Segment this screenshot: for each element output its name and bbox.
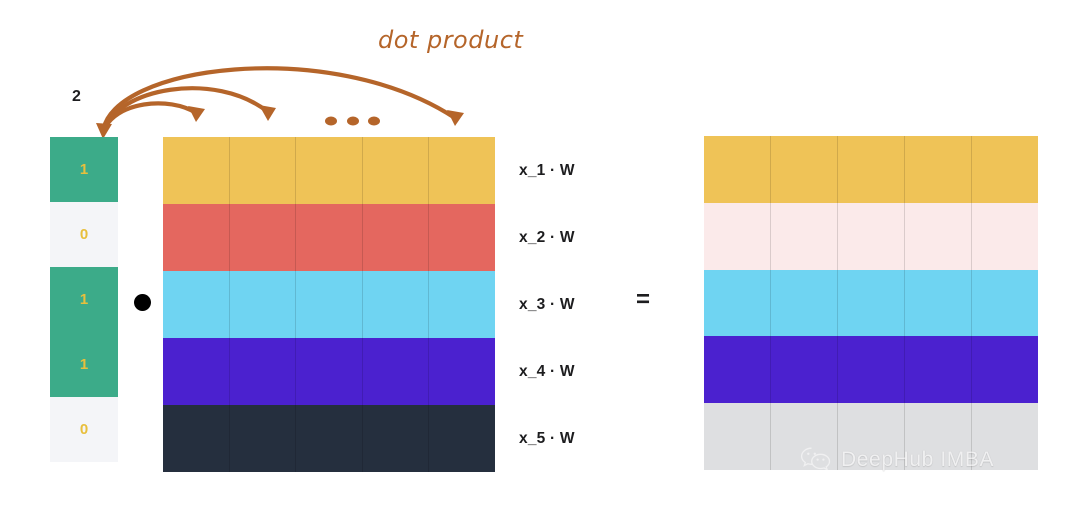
row-label-list: x_1 · W x_2 · W x_3 · W x_4 · W x_5 · W xyxy=(519,137,629,472)
matrix-cell xyxy=(363,338,430,405)
diagram-canvas: 2 dot product 1 0 1 1 0 xyxy=(0,0,1080,516)
result-cell xyxy=(905,336,972,403)
matrix-row[interactable] xyxy=(163,137,495,204)
result-cell xyxy=(704,203,771,270)
result-cell xyxy=(905,203,972,270)
vector-cell[interactable]: 1 xyxy=(50,267,118,332)
result-cell xyxy=(905,270,972,337)
matrix-cell xyxy=(363,271,430,338)
matrix-cell xyxy=(230,137,297,204)
matrix-cell xyxy=(296,137,363,204)
matrix-cell xyxy=(363,204,430,271)
row-label: x_3 · W xyxy=(519,271,629,338)
matrix-cell xyxy=(163,405,230,472)
matrix-cell xyxy=(296,271,363,338)
row-label: x_2 · W xyxy=(519,204,629,271)
matrix-cell xyxy=(429,137,495,204)
dot-product-operator-icon xyxy=(134,294,151,311)
result-row[interactable] xyxy=(704,270,1038,337)
matrix-row[interactable] xyxy=(163,405,495,472)
arrow-path-mid xyxy=(103,88,268,132)
result-row[interactable] xyxy=(704,336,1038,403)
matrix-cell xyxy=(163,338,230,405)
matrix-row[interactable] xyxy=(163,338,495,405)
weight-matrix xyxy=(163,137,495,472)
result-cell xyxy=(905,136,972,203)
matrix-cell xyxy=(429,405,495,472)
result-cell xyxy=(771,270,838,337)
row-label: x_1 · W xyxy=(519,137,629,204)
result-cell xyxy=(704,270,771,337)
matrix-cell xyxy=(429,271,495,338)
result-cell xyxy=(972,336,1038,403)
arrow-path-short xyxy=(103,103,196,132)
result-cell xyxy=(972,136,1038,203)
matrix-cell xyxy=(163,271,230,338)
result-row[interactable] xyxy=(704,203,1038,270)
matrix-cell xyxy=(296,204,363,271)
matrix-cell xyxy=(163,137,230,204)
result-cell xyxy=(838,136,905,203)
watermark: DeepHub IMBA xyxy=(800,446,994,473)
dimension-label: 2 xyxy=(72,88,81,106)
result-cell xyxy=(704,136,771,203)
result-cell xyxy=(771,336,838,403)
matrix-cell xyxy=(163,204,230,271)
equals-sign: = xyxy=(636,286,650,314)
matrix-cell xyxy=(230,405,297,472)
matrix-cell xyxy=(429,204,495,271)
result-cell xyxy=(771,136,838,203)
result-cell xyxy=(771,203,838,270)
matrix-row[interactable] xyxy=(163,204,495,271)
wechat-icon xyxy=(800,446,832,473)
result-matrix xyxy=(704,136,1038,470)
result-row[interactable] xyxy=(704,136,1038,203)
arrow-heads xyxy=(96,105,464,139)
vector-cell[interactable]: 0 xyxy=(50,397,118,462)
result-cell xyxy=(704,336,771,403)
row-label: x_5 · W xyxy=(519,405,629,472)
dot-product-annotation: dot product xyxy=(378,26,523,54)
matrix-cell xyxy=(296,338,363,405)
result-cell xyxy=(838,336,905,403)
arrow-path-long xyxy=(103,68,455,132)
matrix-cell xyxy=(363,405,430,472)
input-vector: 1 0 1 1 0 xyxy=(50,137,118,462)
matrix-cell xyxy=(296,405,363,472)
result-cell xyxy=(704,403,771,470)
matrix-row[interactable] xyxy=(163,271,495,338)
matrix-cell xyxy=(363,137,430,204)
result-cell xyxy=(972,203,1038,270)
vector-cell[interactable]: 1 xyxy=(50,332,118,397)
matrix-cell xyxy=(230,204,297,271)
result-cell xyxy=(838,270,905,337)
row-label: x_4 · W xyxy=(519,338,629,405)
ellipsis-dots xyxy=(325,117,380,126)
matrix-cell xyxy=(429,338,495,405)
vector-cell[interactable]: 0 xyxy=(50,202,118,267)
result-cell xyxy=(838,203,905,270)
watermark-label: DeepHub IMBA xyxy=(841,448,994,472)
result-cell xyxy=(972,270,1038,337)
matrix-cell xyxy=(230,271,297,338)
vector-cell[interactable]: 1 xyxy=(50,137,118,202)
matrix-cell xyxy=(230,338,297,405)
